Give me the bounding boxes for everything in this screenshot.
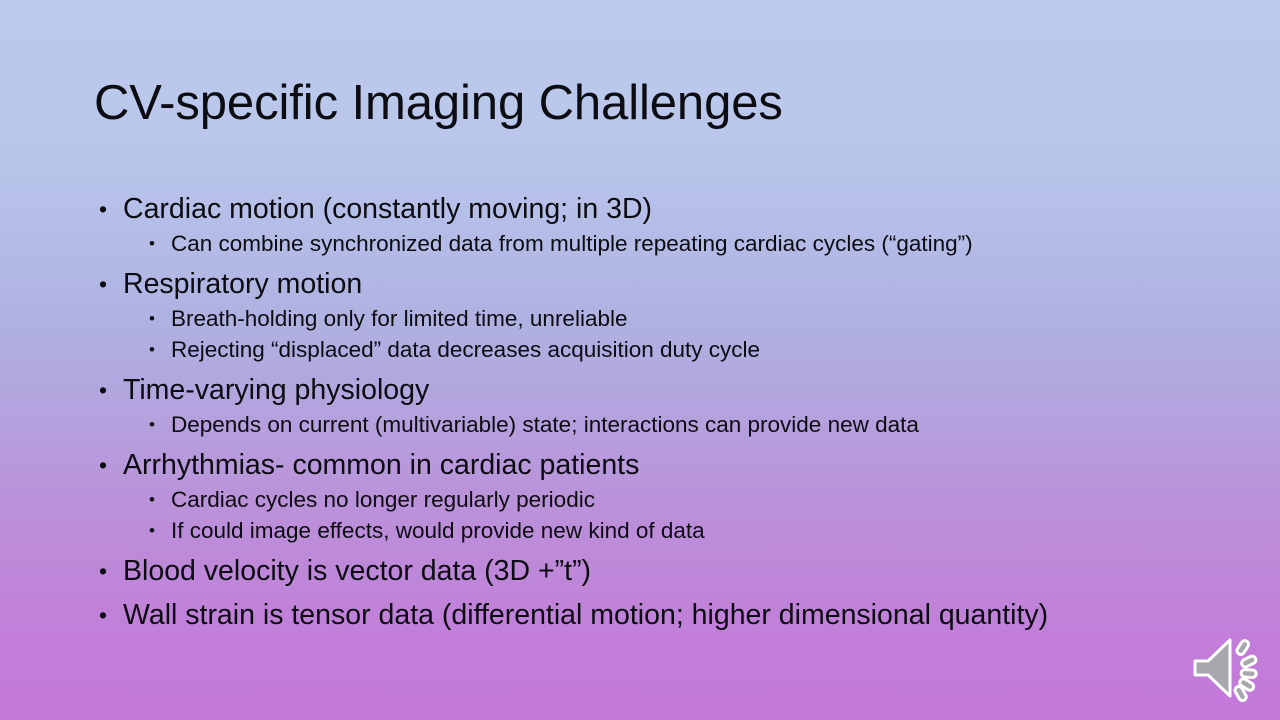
bullet-marker-icon: • xyxy=(99,596,107,634)
slide-title: CV-specific Imaging Challenges xyxy=(94,74,1194,132)
bullet-level1: • Respiratory motion xyxy=(96,265,1216,303)
bullet-marker-icon: • xyxy=(99,190,107,228)
bullet-level2-text: Can combine synchronized data from multi… xyxy=(171,231,973,256)
bullet-level2: • Rejecting “displaced” data decreases a… xyxy=(96,334,1216,365)
bullet-marker-icon: • xyxy=(99,552,107,590)
audio-clip-placeholder[interactable] xyxy=(1189,634,1265,706)
bullet-marker-icon: • xyxy=(99,371,107,409)
bullet-level1-text: Time-varying physiology xyxy=(123,374,429,406)
bullet-level1: • Time-varying physiology xyxy=(96,371,1216,409)
bullet-level1-text: Wall strain is tensor data (differential… xyxy=(123,599,1048,631)
bullet-group: • Arrhythmias- common in cardiac patient… xyxy=(96,446,1216,546)
bullet-group: • Wall strain is tensor data (differenti… xyxy=(96,596,1216,634)
bullet-level2: • Breath-holding only for limited time, … xyxy=(96,303,1216,334)
bullet-level1-text: Arrhythmias- common in cardiac patients xyxy=(123,449,639,481)
bullet-level1: • Cardiac motion (constantly moving; in … xyxy=(96,190,1216,228)
bullet-level2-text: If could image effects, would provide ne… xyxy=(171,518,705,543)
bullet-level2: • Cardiac cycles no longer regularly per… xyxy=(96,484,1216,515)
bullet-level1-text: Blood velocity is vector data (3D +”t”) xyxy=(123,555,591,587)
slide-body-content: • Cardiac motion (constantly moving; in … xyxy=(96,186,1216,634)
presentation-slide: CV-specific Imaging Challenges • Cardiac… xyxy=(0,0,1280,720)
bullet-group: • Respiratory motion • Breath-holding on… xyxy=(96,265,1216,365)
bullet-marker-icon: • xyxy=(149,484,155,515)
bullet-level2-text: Breath-holding only for limited time, un… xyxy=(171,306,627,331)
speaker-body-icon xyxy=(1195,640,1230,696)
speaker-audio-icon[interactable] xyxy=(1189,634,1265,706)
bullet-level2: • Can combine synchronized data from mul… xyxy=(96,228,1216,259)
bullet-marker-icon: • xyxy=(99,265,107,303)
bullet-marker-icon: • xyxy=(149,228,155,259)
bullet-marker-icon: • xyxy=(149,515,155,546)
bullet-group: • Time-varying physiology • Depends on c… xyxy=(96,371,1216,440)
bullet-level2: • Depends on current (multivariable) sta… xyxy=(96,409,1216,440)
bullet-marker-icon: • xyxy=(149,409,155,440)
bullet-level1: • Blood velocity is vector data (3D +”t”… xyxy=(96,552,1216,590)
bullet-level2: • If could image effects, would provide … xyxy=(96,515,1216,546)
bullet-marker-icon: • xyxy=(149,303,155,334)
sound-wave-dashes-icon xyxy=(1234,639,1257,702)
bullet-level1-text: Respiratory motion xyxy=(123,268,362,300)
bullet-level2-text: Cardiac cycles no longer regularly perio… xyxy=(171,487,595,512)
bullet-group: • Blood velocity is vector data (3D +”t”… xyxy=(96,552,1216,590)
bullet-level1: • Wall strain is tensor data (differenti… xyxy=(96,596,1216,634)
bullet-group: • Cardiac motion (constantly moving; in … xyxy=(96,190,1216,259)
bullet-level2-text: Rejecting “displaced” data decreases acq… xyxy=(171,337,760,362)
bullet-marker-icon: • xyxy=(99,446,107,484)
bullet-level1-text: Cardiac motion (constantly moving; in 3D… xyxy=(123,193,652,225)
bullet-level1: • Arrhythmias- common in cardiac patient… xyxy=(96,446,1216,484)
bullet-level2-text: Depends on current (multivariable) state… xyxy=(171,412,919,437)
bullet-marker-icon: • xyxy=(149,334,155,365)
